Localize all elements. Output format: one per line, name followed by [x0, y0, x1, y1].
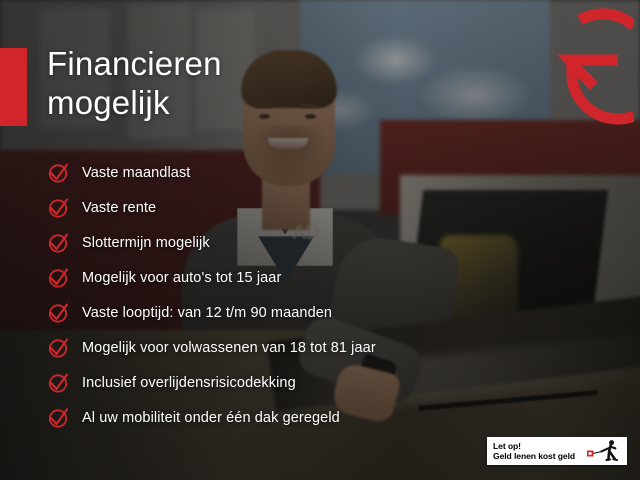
- list-item-label: Inclusief overlijdensrisicodekking: [82, 375, 296, 391]
- red-circular-arrow-logo: [550, 4, 634, 132]
- list-item: Mogelijk voor volwassenen van 18 tot 81 …: [47, 331, 567, 364]
- list-item: Vaste looptijd: van 12 t/m 90 maanden: [47, 296, 567, 329]
- list-item-label: Mogelijk voor volwassenen van 18 tot 81 …: [82, 340, 376, 356]
- check-circle-icon: [47, 407, 69, 429]
- list-item: Slottermijn mogelijk: [47, 226, 567, 259]
- list-item-label: Vaste rente: [82, 200, 156, 216]
- list-item-label: Al uw mobiliteit onder één dak geregeld: [82, 410, 340, 426]
- list-item: Inclusief overlijdensrisicodekking: [47, 366, 567, 399]
- check-circle-icon: [47, 197, 69, 219]
- list-item-label: Mogelijk voor auto's tot 15 jaar: [82, 270, 281, 286]
- list-item: Al uw mobiliteit onder één dak geregeld: [47, 401, 567, 434]
- check-circle-icon: [47, 372, 69, 394]
- red-block-accent: [0, 48, 27, 126]
- list-item: Vaste maandlast: [47, 156, 567, 189]
- check-circle-icon: [47, 267, 69, 289]
- status-badge: Let op! Geld lenen kost geld: [487, 437, 627, 465]
- list-item-label: Vaste maandlast: [82, 165, 190, 181]
- list-item-label: Slottermijn mogelijk: [82, 235, 210, 251]
- check-circle-icon: [47, 232, 69, 254]
- list-item: Vaste rente: [47, 191, 567, 224]
- check-circle-icon: [47, 302, 69, 324]
- check-circle-icon: [47, 162, 69, 184]
- walking-man-pulling-weight-icon: [587, 439, 621, 463]
- page-title: Financieren mogelijk: [47, 44, 377, 122]
- financing-banner: AD Financieren mogelijk Vaste maandlast: [0, 0, 640, 480]
- list-item-label: Vaste looptijd: van 12 t/m 90 maanden: [82, 305, 332, 321]
- feature-list: Vaste maandlast Vaste rente Slottermijn …: [47, 156, 567, 436]
- list-item: Mogelijk voor auto's tot 15 jaar: [47, 261, 567, 294]
- warning-text: Let op! Geld lenen kost geld: [493, 441, 587, 462]
- check-circle-icon: [47, 337, 69, 359]
